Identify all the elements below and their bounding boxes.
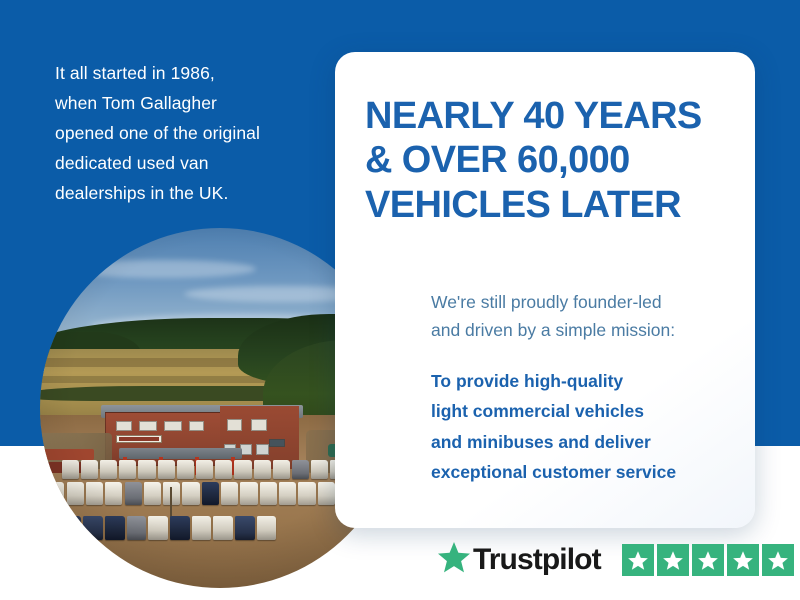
trustpilot-star-filled xyxy=(622,544,654,576)
trustpilot-logo[interactable]: Trustpilot xyxy=(437,541,601,579)
trustpilot-star-rating xyxy=(622,544,794,576)
trustpilot-star-filled xyxy=(762,544,794,576)
trustpilot-wordmark: Trustpilot xyxy=(473,545,601,575)
card-subheading: We're still proudly founder-led and driv… xyxy=(431,288,731,345)
intro-paragraph: It all started in 1986, when Tom Gallagh… xyxy=(55,58,315,208)
trustpilot-star-filled xyxy=(657,544,689,576)
message-card: NEARLY 40 YEARS & OVER 60,000 VEHICLES L… xyxy=(335,52,755,528)
banner-stage: It all started in 1986, when Tom Gallagh… xyxy=(0,0,800,600)
card-headline: NEARLY 40 YEARS & OVER 60,000 VEHICLES L… xyxy=(365,94,735,227)
trustpilot-star-icon xyxy=(437,541,471,579)
trustpilot-star-filled xyxy=(727,544,759,576)
card-mission-statement: To provide high-quality light commercial… xyxy=(431,366,741,488)
trustpilot-star-filled xyxy=(692,544,724,576)
trustpilot-rating[interactable]: Trustpilot xyxy=(437,541,794,579)
